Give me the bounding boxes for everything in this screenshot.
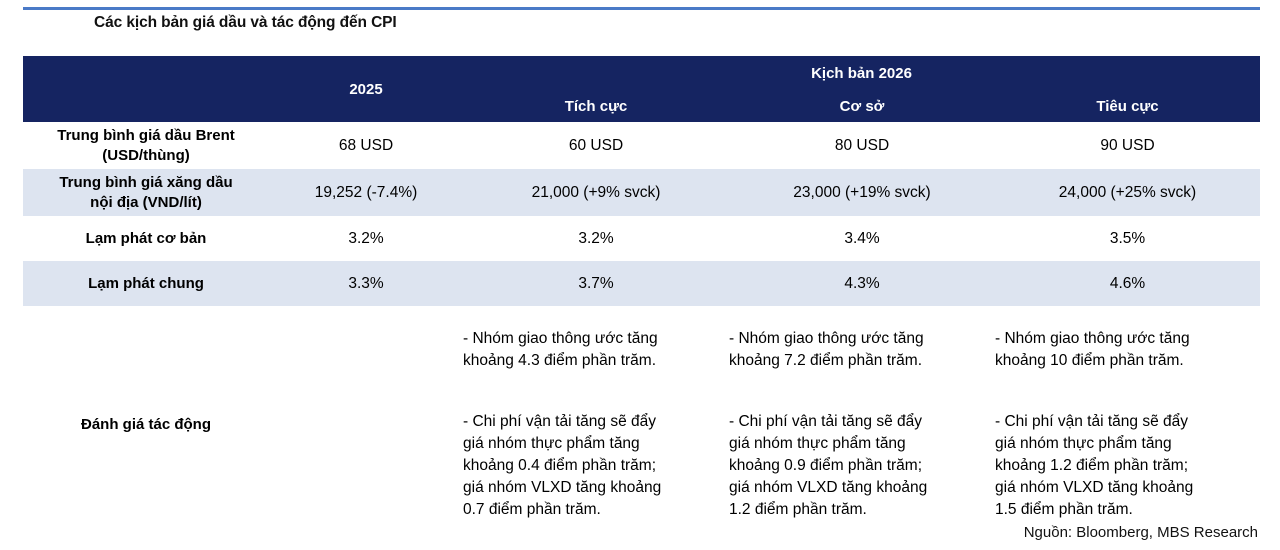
header-scenario-group: Kịch bản 2026 [463,56,1260,90]
impact-co-so-para2: - Chi phí vận tải tăng sẽ đẩy giá nhóm t… [729,411,995,521]
row-headline-co-so: 4.3% [729,261,995,306]
impact-tich-cuc: - Nhóm giao thông ước tăng khoảng 4.3 đi… [463,306,729,543]
impact-tich-cuc-para2: - Chi phí vận tải tăng sẽ đẩy giá nhóm t… [463,411,729,521]
impact-tich-cuc-para1: - Nhóm giao thông ước tăng khoảng 4.3 đi… [463,328,729,372]
row-brent-2025: 68 USD [269,122,463,169]
impact-2025 [269,306,463,543]
oil-price-scenario-table: 2025 Kịch bản 2026 Tích cực Cơ sở Tiêu c… [23,56,1260,543]
row-core-tieu-cuc: 3.5% [995,216,1260,261]
impact-tieu-cuc: - Nhóm giao thông ước tăng khoảng 10 điể… [995,306,1260,543]
document-top-rule [23,7,1260,10]
row-label-domestic-fuel: Trung bình giá xăng dầu nội địa (VND/lít… [23,169,269,216]
row-headline-2025: 3.3% [269,261,463,306]
source-note: Nguồn: Bloomberg, MBS Research [1024,524,1258,541]
row-fuel-tich-cuc: 21,000 (+9% svck) [463,169,729,216]
table-header-row-top: 2025 Kịch bản 2026 [23,56,1260,90]
row-headline-tieu-cuc: 4.6% [995,261,1260,306]
row-core-co-so: 3.4% [729,216,995,261]
row-core-tich-cuc: 3.2% [463,216,729,261]
row-label-impact-assessment: Đánh giá tác động [23,306,269,543]
impact-tieu-cuc-para1: - Nhóm giao thông ước tăng khoảng 10 điể… [995,328,1260,372]
header-scenario-co-so: Cơ sở [729,90,995,122]
table-row-impact: Đánh giá tác động - Nhóm giao thông ước … [23,306,1260,543]
row-fuel-tieu-cuc: 24,000 (+25% svck) [995,169,1260,216]
row-brent-tieu-cuc: 90 USD [995,122,1260,169]
impact-tieu-cuc-para2: - Chi phí vận tải tăng sẽ đẩy giá nhóm t… [995,411,1260,521]
table-row: Trung bình giá dầu Brent (USD/thùng) 68 … [23,122,1260,169]
row-core-2025: 3.2% [269,216,463,261]
row-fuel-2025: 19,252 (-7.4%) [269,169,463,216]
figure-title: Các kịch bản giá dầu và tác động đến CPI [94,14,397,32]
impact-co-so: - Nhóm giao thông ước tăng khoảng 7.2 đi… [729,306,995,543]
header-col-2025: 2025 [269,56,463,122]
row-fuel-co-so: 23,000 (+19% svck) [729,169,995,216]
row-label-core-inflation: Lạm phát cơ bản [23,216,269,261]
header-corner-blank [23,56,269,122]
row-headline-tich-cuc: 3.7% [463,261,729,306]
header-scenario-tieu-cuc: Tiêu cực [995,90,1260,122]
row-label-headline-inflation: Lạm phát chung [23,261,269,306]
header-scenario-tich-cuc: Tích cực [463,90,729,122]
figure-page: { "figure": { "title": "Các kịch bản giá… [0,0,1280,550]
impact-co-so-para1: - Nhóm giao thông ước tăng khoảng 7.2 đi… [729,328,995,372]
row-label-brent: Trung bình giá dầu Brent (USD/thùng) [23,122,269,169]
row-brent-tich-cuc: 60 USD [463,122,729,169]
table-row: Lạm phát chung 3.3% 3.7% 4.3% 4.6% [23,261,1260,306]
table-row: Lạm phát cơ bản 3.2% 3.2% 3.4% 3.5% [23,216,1260,261]
table-row: Trung bình giá xăng dầu nội địa (VND/lít… [23,169,1260,216]
row-brent-co-so: 80 USD [729,122,995,169]
